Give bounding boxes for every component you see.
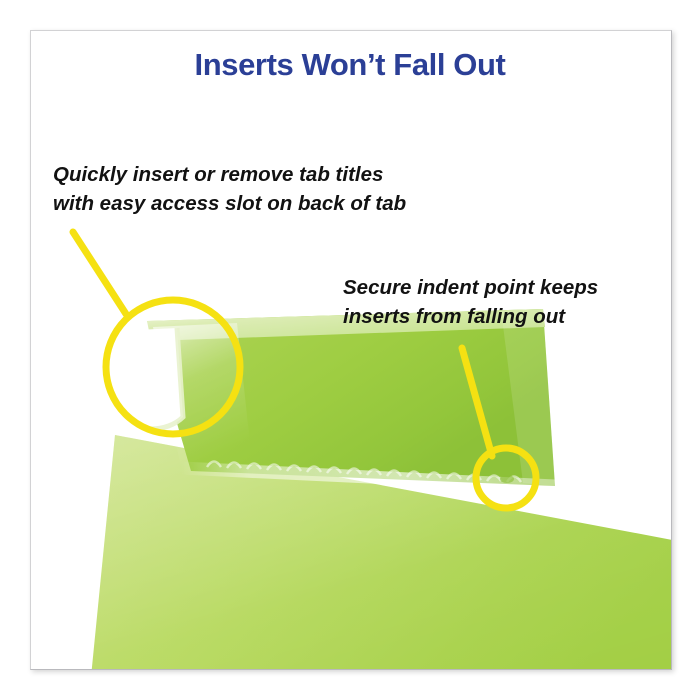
- caption-line: with easy access slot on back of tab: [53, 189, 406, 218]
- product-feature-image: Inserts Won’t Fall Out Quickly insert or…: [0, 0, 700, 700]
- callout-caption-access-slot: Quickly insert or remove tab titles with…: [53, 160, 406, 218]
- caption-line: Quickly insert or remove tab titles: [53, 160, 406, 189]
- page-title: Inserts Won’t Fall Out: [0, 48, 700, 82]
- product-photograph: [31, 31, 672, 670]
- caption-line: Secure indent point keeps: [343, 273, 598, 302]
- callout-caption-indent-point: Secure indent point keeps inserts from f…: [343, 273, 598, 331]
- tab-access-slot: [117, 328, 183, 430]
- photo-frame: [30, 30, 672, 670]
- secure-indent-point: [500, 475, 514, 483]
- caption-line: inserts from falling out: [343, 302, 598, 331]
